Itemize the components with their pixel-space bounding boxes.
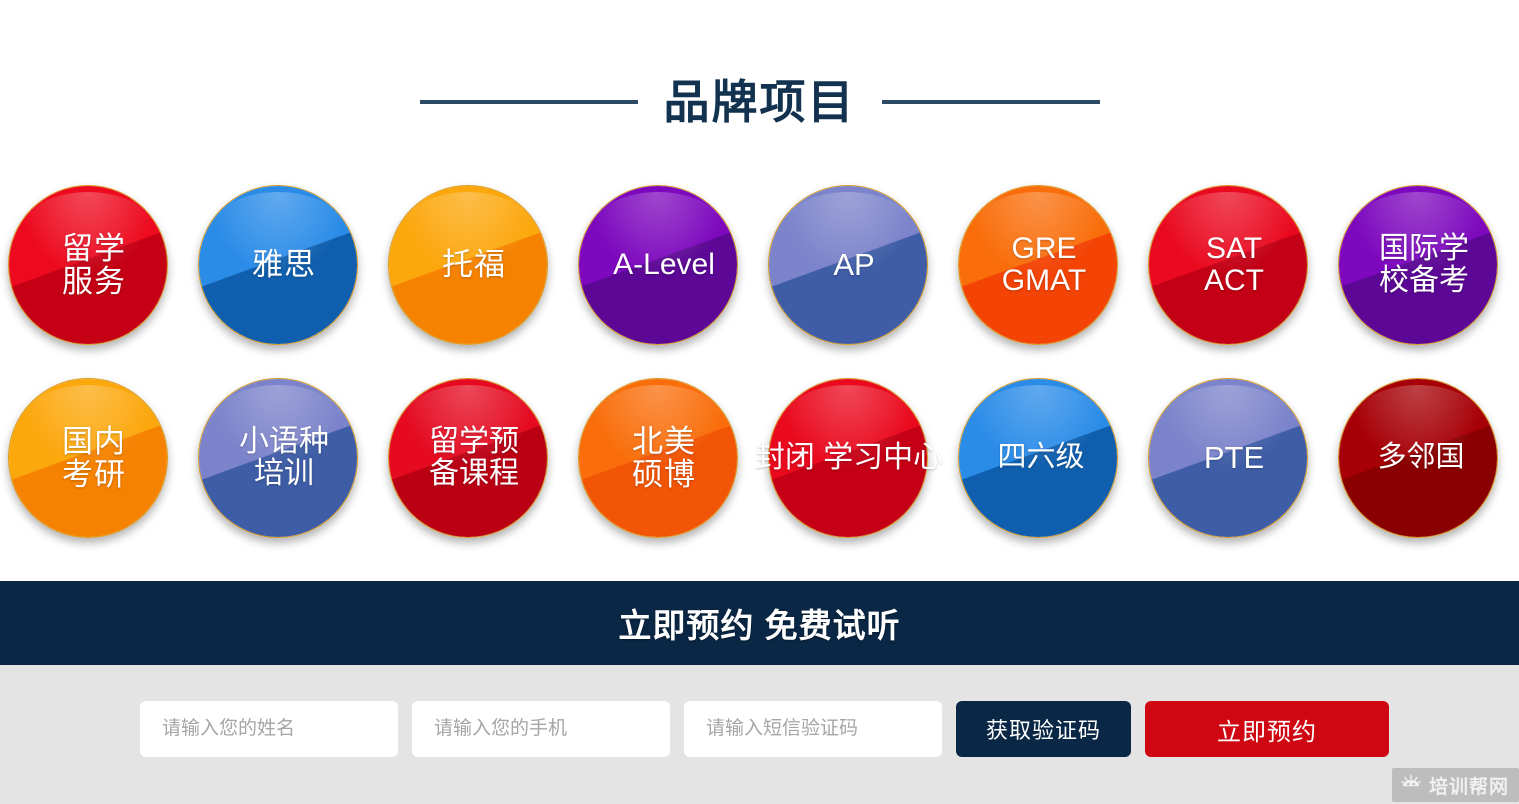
get-sms-code-button[interactable]: 获取验证码: [956, 701, 1131, 757]
program-bubble[interactable]: 托福: [388, 185, 548, 345]
section-header: 品牌项目: [0, 62, 1519, 142]
program-bubble-label: A-Level: [601, 249, 715, 281]
name-input[interactable]: [140, 701, 398, 757]
program-bubble-label: 国内 考研: [50, 425, 126, 491]
program-bubble-label: 留学 服务: [50, 232, 126, 298]
sms-code-input[interactable]: [684, 701, 942, 757]
phone-input[interactable]: [412, 701, 670, 757]
program-bubble[interactable]: 北美 硕博: [578, 378, 738, 538]
program-bubble[interactable]: 国际学 校备考: [1338, 185, 1498, 345]
program-bubble-label: 托福: [430, 248, 506, 281]
program-bubble[interactable]: 四六级: [958, 378, 1118, 538]
program-bubble-label: 封闭 学习中心: [753, 442, 943, 474]
program-bubble-label: 多邻国: [1371, 442, 1464, 473]
program-bubble-label: 小语种 培训: [227, 426, 329, 490]
program-bubble[interactable]: 国内 考研: [8, 378, 168, 538]
program-bubble[interactable]: 小语种 培训: [198, 378, 358, 538]
cta-headline: 立即预约 免费试听: [618, 599, 900, 647]
program-bubble-label: 四六级: [991, 442, 1084, 473]
program-bubble[interactable]: PTE: [1148, 378, 1308, 538]
program-bubble[interactable]: GRE GMAT: [958, 185, 1118, 345]
program-bubble[interactable]: 雅思: [198, 185, 358, 345]
program-row-1: 留学 服务雅思托福A-LevelAPGRE GMATSAT ACT国际学 校备考: [8, 185, 1519, 345]
program-bubble-label: GRE GMAT: [990, 233, 1086, 297]
program-bubble-label: AP: [821, 248, 874, 281]
program-bubble[interactable]: 多邻国: [1338, 378, 1498, 538]
program-bubble[interactable]: 封闭 学习中心: [768, 378, 928, 538]
program-bubble-label: 北美 硕博: [620, 425, 696, 491]
program-bubble-grid: 留学 服务雅思托福A-LevelAPGRE GMATSAT ACT国际学 校备考…: [8, 185, 1519, 571]
program-bubble-label: 留学预 备课程: [417, 426, 519, 490]
program-bubble[interactable]: SAT ACT: [1148, 185, 1308, 345]
program-bubble[interactable]: A-Level: [578, 185, 738, 345]
program-bubble[interactable]: AP: [768, 185, 928, 345]
watermark-label: 培训帮网: [1429, 772, 1509, 799]
program-bubble-label: 国际学 校备考: [1367, 233, 1469, 297]
sun-face-icon: [1400, 774, 1422, 796]
page-title: 品牌项目: [664, 79, 856, 125]
program-bubble-label: 雅思: [240, 248, 316, 281]
signup-form: 获取验证码 立即预约: [140, 701, 1389, 757]
title-rule-right: [882, 100, 1100, 104]
signup-form-strip: 获取验证码 立即预约: [0, 665, 1519, 804]
site-watermark: 培训帮网: [1392, 768, 1519, 802]
submit-booking-button[interactable]: 立即预约: [1145, 701, 1389, 757]
program-row-2: 国内 考研小语种 培训留学预 备课程北美 硕博封闭 学习中心四六级PTE多邻国: [8, 378, 1519, 538]
program-bubble[interactable]: 留学 服务: [8, 185, 168, 345]
cta-banner: 立即预约 免费试听: [0, 581, 1519, 665]
program-bubble[interactable]: 留学预 备课程: [388, 378, 548, 538]
program-bubble-label: SAT ACT: [1192, 233, 1264, 297]
title-rule-left: [420, 100, 638, 104]
program-bubble-label: PTE: [1192, 441, 1264, 474]
